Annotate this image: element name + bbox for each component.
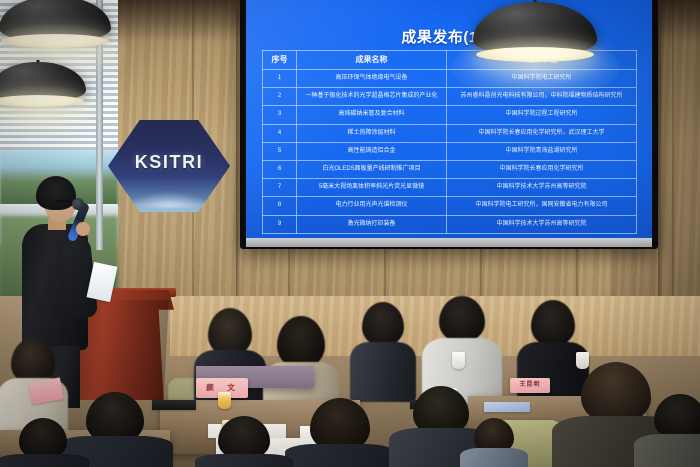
cell-no: 2 bbox=[263, 88, 297, 106]
lamp-rim-light bbox=[0, 95, 84, 107]
beverage-cup bbox=[218, 392, 231, 409]
cell-name: 激光微纳打印装备 bbox=[297, 215, 447, 233]
lamp-rim-light bbox=[1, 34, 109, 48]
cell-no: 4 bbox=[263, 124, 297, 142]
attendee-head bbox=[439, 296, 485, 342]
cell-name: 白光OLEDS面板量产线研制推广项目 bbox=[297, 161, 447, 179]
table-row: 2 一种基于极化技术的光学超晶格芯片集成的产业化 苏州睿科晶创光电科技有限公司，… bbox=[263, 88, 637, 106]
attendee bbox=[288, 398, 392, 467]
cell-org: 中国科学院长春应用化学研究所，武汉理工大学 bbox=[447, 124, 637, 142]
table-row: 8 电力行业用光声光谱检测仪 中国科学院电工研究所，国网安徽省电力有限公司 bbox=[263, 197, 637, 215]
document bbox=[484, 402, 530, 412]
attendee bbox=[0, 418, 86, 467]
col-header-no: 序号 bbox=[263, 51, 297, 70]
attendee-torso bbox=[0, 454, 89, 467]
cell-name: 高纯碳纳米管及复合材料 bbox=[297, 106, 447, 124]
table-row: 7 5毫米大视场离体积率斜光片荧光显微镜 中国科学技术大学苏州高等研究院 bbox=[263, 179, 637, 197]
table-row: 6 白光OLEDS面板量产线研制推广项目 中国科学院长春应用化学研究所 bbox=[263, 161, 637, 179]
cell-org: 中国科学院电工研究所，国网安徽省电力有限公司 bbox=[447, 197, 637, 215]
attendee bbox=[424, 296, 500, 400]
cell-org: 中国科学技术大学苏州高等研究院 bbox=[447, 215, 637, 233]
pendant-lamp-left-front bbox=[0, 0, 110, 64]
pendant-lamp-left-back bbox=[0, 60, 86, 126]
cell-org: 苏州睿科晶创光电科技有限公司，中科院福建物质结构研究所 bbox=[447, 88, 637, 106]
attendee-head bbox=[531, 300, 575, 346]
cell-name: 电力行业用光声光谱检测仪 bbox=[297, 197, 447, 215]
screen-bottom-strip bbox=[246, 238, 652, 247]
cell-name: 高性能铸造铝合金 bbox=[297, 142, 447, 160]
cell-name: 高压环保气体绝缘电气设备 bbox=[297, 70, 447, 88]
pendant-lamp-center bbox=[472, 0, 598, 76]
attendee-head bbox=[362, 302, 404, 346]
table-row: 9 激光微纳打印装备 中国科学技术大学苏州高等研究院 bbox=[263, 215, 637, 233]
attendee-head bbox=[208, 308, 252, 356]
results-table: 序号 成果名称 成果单位 1 高压环保气体绝缘电气设备 中国科学院电工研究所 2… bbox=[262, 50, 637, 234]
attendee-torso bbox=[195, 454, 293, 467]
attendee-torso bbox=[285, 444, 395, 467]
attendee bbox=[198, 416, 290, 467]
speaker-hand bbox=[76, 222, 90, 236]
lamp-rim-light bbox=[476, 47, 594, 62]
cell-no: 3 bbox=[263, 106, 297, 124]
col-header-name: 成果名称 bbox=[297, 51, 447, 70]
attendee bbox=[462, 418, 526, 467]
attendee-head bbox=[277, 316, 325, 368]
attendee-torso bbox=[634, 434, 700, 467]
cell-org: 中国科学院长春应用化学研究所 bbox=[447, 161, 637, 179]
ksitri-sign-glow bbox=[125, 192, 213, 208]
cell-org: 中国科学院青海盐湖研究所 bbox=[447, 142, 637, 160]
conference-room-photo: KSITRI 成果发布(1/2) 序号 成果名称 成果单位 1 高压环保气体绝缘… bbox=[0, 0, 700, 467]
table-row: 4 稀土热障涂层材料 中国科学院长春应用化学研究所，武汉理工大学 bbox=[263, 124, 637, 142]
attendee bbox=[352, 302, 414, 398]
wall-seam-right bbox=[658, 0, 662, 300]
attendee bbox=[640, 394, 700, 467]
cell-org: 中国科学技术大学苏州高等研究院 bbox=[447, 179, 637, 197]
name-card: 王昆明 bbox=[510, 378, 550, 393]
cell-name: 稀土热障涂层材料 bbox=[297, 124, 447, 142]
cell-name: 一种基于极化技术的光学超晶格芯片集成的产业化 bbox=[297, 88, 447, 106]
attendee-torso bbox=[460, 448, 528, 467]
results-table-body: 1 高压环保气体绝缘电气设备 中国科学院电工研究所 2 一种基于极化技术的光学超… bbox=[263, 70, 637, 234]
cell-no: 8 bbox=[263, 197, 297, 215]
paper-cup bbox=[452, 352, 465, 369]
cell-org: 中国科学院过程工程研究所 bbox=[447, 106, 637, 124]
table-row: 3 高纯碳纳米管及复合材料 中国科学院过程工程研究所 bbox=[263, 106, 637, 124]
cell-name: 5毫米大视场离体积率斜光片荧光显微镜 bbox=[297, 179, 447, 197]
microphone-head-icon bbox=[72, 198, 84, 210]
cell-no: 1 bbox=[263, 70, 297, 88]
cell-no: 7 bbox=[263, 179, 297, 197]
cell-no: 6 bbox=[263, 161, 297, 179]
cell-no: 9 bbox=[263, 215, 297, 233]
ksitri-sign-label: KSITRI bbox=[108, 152, 230, 173]
table-row: 5 高性能铸造铝合金 中国科学院青海盐湖研究所 bbox=[263, 142, 637, 160]
cell-no: 5 bbox=[263, 142, 297, 160]
